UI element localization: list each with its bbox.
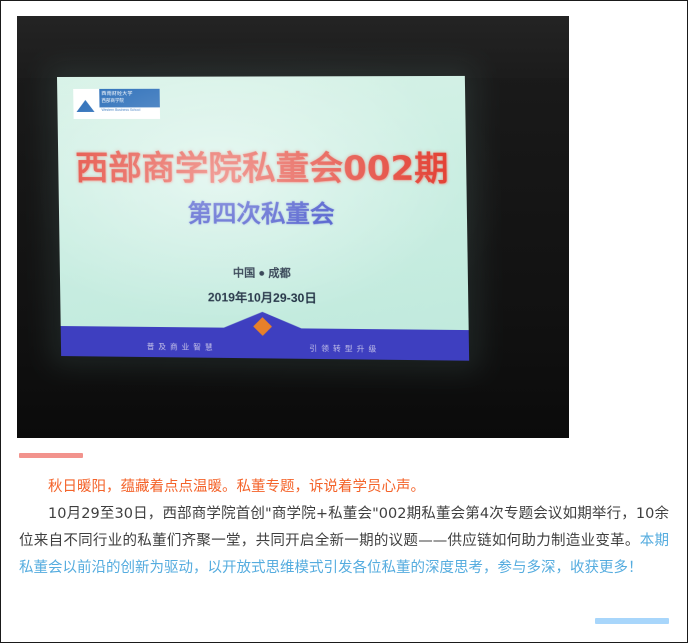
photo-top-shadow (17, 16, 569, 78)
slide-footer-band: 普及商业智慧 引领转型升级 (61, 326, 469, 361)
slide-surface: 西南财经大学 西部商学院 Western Business School 西部商… (57, 76, 469, 361)
slide-title: 西部商学院私董会002期 (58, 141, 467, 190)
logo-line-school: 西部商学院 (101, 98, 157, 104)
article-body: 秋日暖阳，蕴藏着点点温暖。私董专题，诉说着学员心声。 10月29至30日，西部商… (1, 453, 687, 582)
logo-line-english: Western Business School (102, 107, 158, 113)
slide-date: 2019年10月29-30日 (60, 287, 468, 308)
article-card: 西南财经大学 西部商学院 Western Business School 西部商… (0, 0, 688, 643)
logo-text-block: 西南财经大学 西部商学院 Western Business School (99, 89, 160, 119)
projected-slide: 西南财经大学 西部商学院 Western Business School 西部商… (57, 76, 469, 361)
article-lead-paragraph: 秋日暖阳，蕴藏着点点温暖。私董专题，诉说着学员心声。 (19, 474, 669, 501)
school-logo: 西南财经大学 西部商学院 Western Business School (73, 89, 160, 119)
band-slogan-left: 普及商业智慧 (147, 341, 217, 353)
slide-location: 中国 ● 成都 (60, 263, 468, 282)
presentation-photo: 西南财经大学 西部商学院 Western Business School 西部商… (17, 16, 569, 438)
decorative-rule-bottom (595, 618, 669, 624)
band-slogans: 普及商业智慧 引领转型升级 (61, 340, 469, 356)
article-main-paragraph: 10月29至30日，西部商学院首创"商学院+私董会"002期私董会第4次专题会议… (19, 501, 669, 582)
decorative-rule-top (19, 453, 83, 458)
slide-subtitle: 第四次私董会 (59, 193, 467, 230)
article-main-text: 10月29至30日，西部商学院首创"商学院+私董会"002期私董会第4次专题会议… (19, 506, 669, 549)
mountain-logo-icon (73, 89, 99, 119)
band-slogan-right: 引领转型升级 (309, 343, 380, 355)
